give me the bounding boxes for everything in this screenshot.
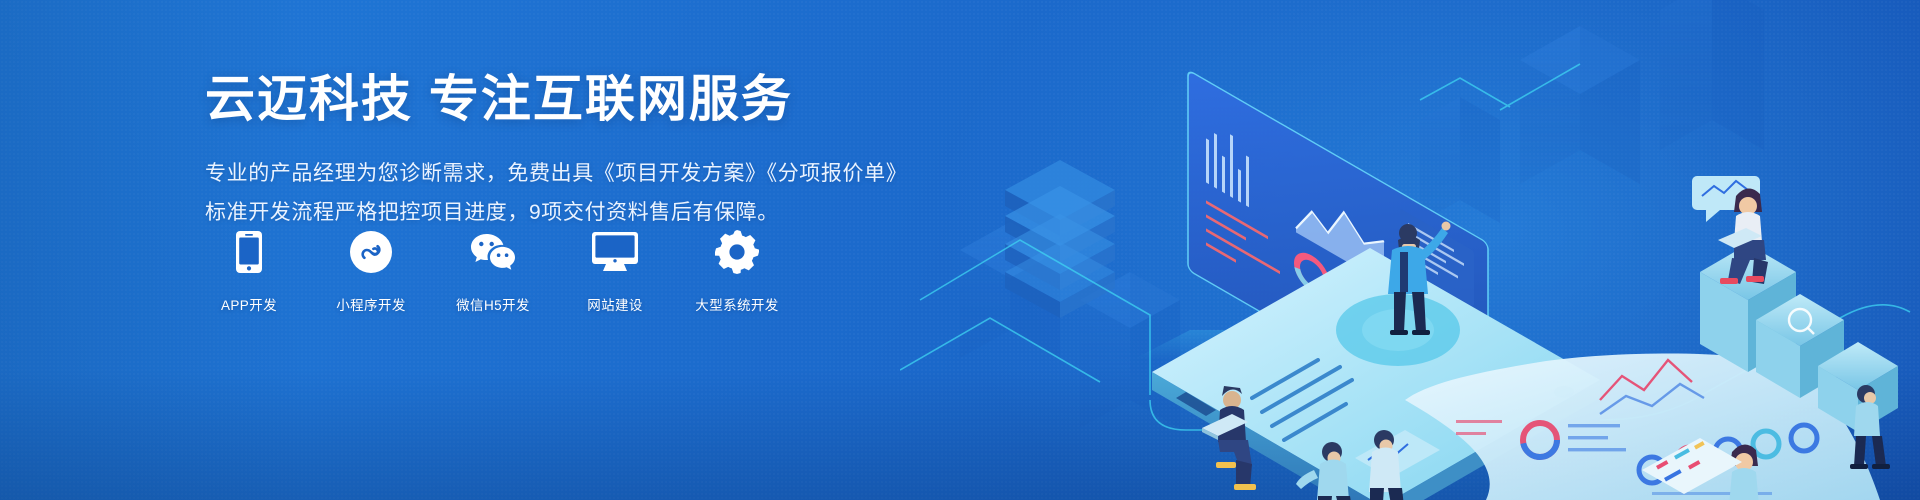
speech-bubble <box>1692 176 1760 222</box>
stair-blocks <box>1700 244 1898 432</box>
service-item-wechat[interactable]: 微信H5开发 <box>449 228 537 314</box>
illustration <box>900 0 1920 500</box>
page-title: 云迈科技 专注互联网服务 <box>205 70 925 129</box>
person-walking <box>1850 385 1890 469</box>
desktop-monitor-icon <box>592 228 638 276</box>
mini-chart-card <box>1355 430 1440 478</box>
gear-icon <box>715 228 759 276</box>
background-towers <box>960 0 1764 428</box>
mini-program-icon <box>350 228 392 276</box>
person-pair-front <box>1296 430 1405 500</box>
subtitle-line-2: 标准开发流程严格把控项目进度，9项交付资料售后有保障。 <box>205 194 925 233</box>
service-label: 大型系统开发 <box>695 294 778 314</box>
service-item-website[interactable]: 网站建设 <box>571 228 659 314</box>
service-label: 微信H5开发 <box>456 294 530 314</box>
dashboard-screen <box>1132 70 1520 443</box>
hero-banner: 云迈科技 专注互联网服务 专业的产品经理为您诊断需求，免费出具《项目开发方案》《… <box>0 0 1920 500</box>
service-list: APP开发 小程序开发 <box>205 228 781 314</box>
service-item-app[interactable]: APP开发 <box>205 228 293 314</box>
circuit-lines <box>900 64 1910 430</box>
person-sitting-laptop <box>1202 386 1256 490</box>
service-item-miniprogram[interactable]: 小程序开发 <box>327 228 415 314</box>
report-sheet <box>1405 353 1880 500</box>
service-label: 小程序开发 <box>336 294 406 314</box>
isometric-illustration-svg <box>900 0 1920 500</box>
subtitle-line-1: 专业的产品经理为您诊断需求，免费出具《项目开发方案》《分项报价单》 <box>205 155 925 194</box>
person-bottom-right <box>1729 444 1763 500</box>
wechat-icon <box>469 228 517 276</box>
person-on-pedestal <box>1718 188 1768 284</box>
hero-copy: 云迈科技 专注互联网服务 专业的产品经理为您诊断需求，免费出具《项目开发方案》《… <box>205 70 925 233</box>
person-presenter <box>1388 222 1451 336</box>
code-card <box>1642 438 1742 494</box>
tablet-platform <box>1152 248 1600 500</box>
service-label: 网站建设 <box>587 294 643 314</box>
service-item-large-system[interactable]: 大型系统开发 <box>693 228 781 314</box>
server-stack <box>1005 160 1115 318</box>
service-label: APP开发 <box>221 294 277 314</box>
mobile-phone-icon <box>236 228 262 276</box>
hero-subtitle: 专业的产品经理为您诊断需求，免费出具《项目开发方案》《分项报价单》 标准开发流程… <box>205 155 925 233</box>
